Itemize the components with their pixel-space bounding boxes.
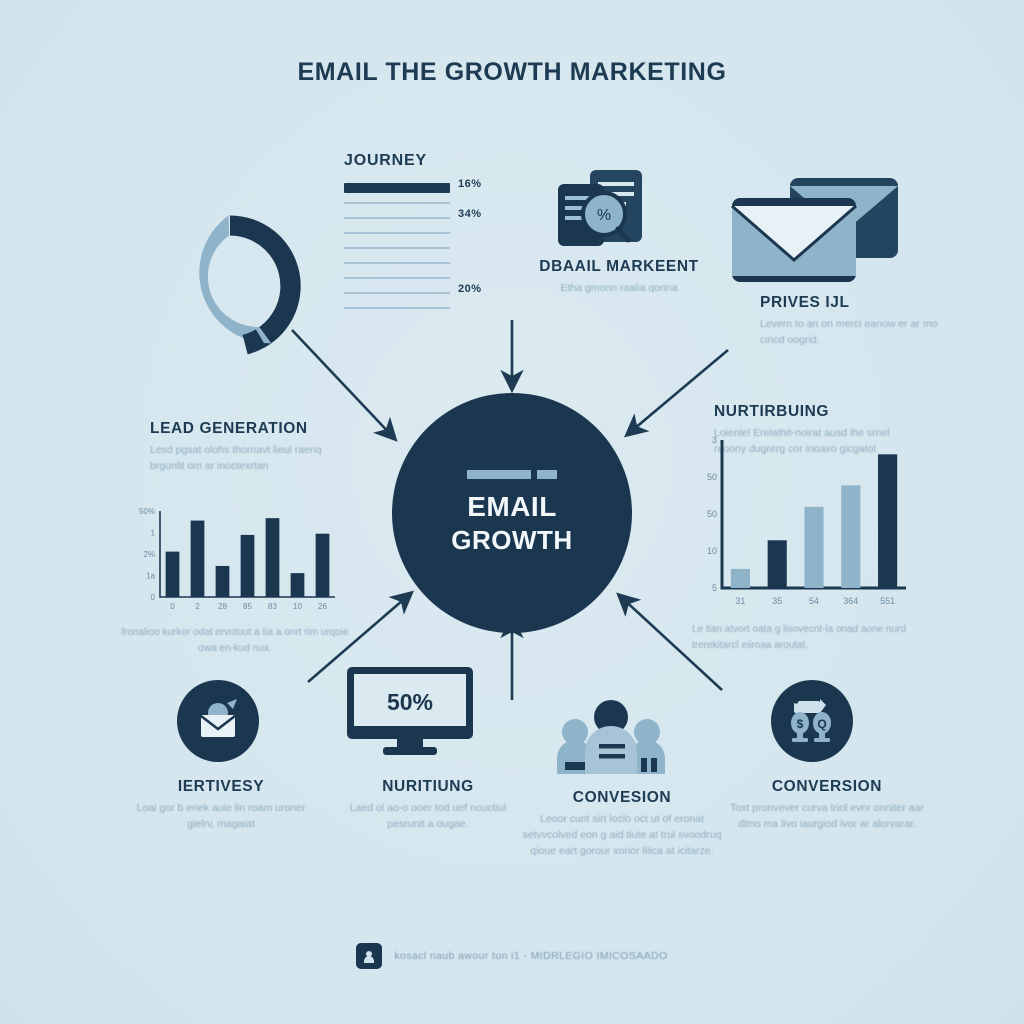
chart-bar xyxy=(804,507,823,588)
node-title: LEAD GENERATION xyxy=(150,420,340,438)
journey-block: JOURNEY 16%34%20% xyxy=(344,152,504,315)
journey-row: 16% xyxy=(344,180,504,195)
node-lead-generation: LEAD GENERATION Lesd pgsat olohs thornav… xyxy=(150,420,340,475)
journey-rows: 16%34%20% xyxy=(344,180,504,315)
center-hub: EMAIL GROWTH xyxy=(392,393,632,633)
journey-donut-chart xyxy=(146,196,314,376)
chart-xtick: 551 xyxy=(880,596,895,606)
chart-bar xyxy=(241,535,255,597)
journey-row xyxy=(344,225,504,240)
chart-xtick: 2 xyxy=(195,602,200,611)
chart-xtick: 0 xyxy=(170,602,175,611)
chart-bar xyxy=(768,540,787,588)
node-title: NURTIRBUING xyxy=(714,403,904,421)
hub-divider-dashes xyxy=(467,470,557,479)
journey-bar-line xyxy=(344,232,450,234)
nurturing-caption: Le tian atvort oata g lisovecnt-la onad … xyxy=(692,622,912,654)
chart-ytick: 5 xyxy=(712,583,717,593)
page-title: EMAIL THE GROWTH MARKETING xyxy=(0,58,1024,87)
chart-bar xyxy=(878,454,897,588)
chart-ytick: 1a xyxy=(146,572,155,581)
chart-bar xyxy=(316,534,330,597)
journey-row: 20% xyxy=(344,285,504,300)
journey-title: JOURNEY xyxy=(344,152,504,170)
svg-text:%: % xyxy=(597,207,611,224)
chart-ytick: 0 xyxy=(151,593,156,602)
journey-bar-line xyxy=(344,217,450,219)
journey-row xyxy=(344,255,504,270)
journey-percent: 16% xyxy=(458,178,482,190)
hub-title-line2: GROWTH xyxy=(451,525,572,556)
node-nuritiung: NURITIUNG Laed ol ao-o ooer tod uef nouc… xyxy=(330,778,526,833)
node-title: CONVERSION xyxy=(722,778,932,796)
chart-xtick: 85 xyxy=(243,602,252,611)
lead-generation-bar-chart: 50%12%1a0022885831026 xyxy=(126,505,341,622)
chart-ytick: 50% xyxy=(139,507,155,516)
node-body: Lesd pgsat olohs thornavt lieul raenq br… xyxy=(150,443,340,475)
journey-bar-line xyxy=(344,307,450,309)
arrow-prives-to-hub xyxy=(628,350,728,434)
chart-ytick: 50 xyxy=(707,509,717,519)
journey-bar-line xyxy=(344,292,450,294)
footer-badge-icon xyxy=(356,943,382,969)
chart-xtick: 83 xyxy=(268,602,277,611)
footer: kosacl naub awour tun i1 - MIDRLEGIO IMI… xyxy=(0,943,1024,969)
svg-text:Q: Q xyxy=(817,717,826,731)
chart-xtick: 10 xyxy=(293,602,302,611)
infographic-canvas: EMAIL THE GROWTH MARKETING JOURNEY 16%34… xyxy=(0,0,1024,1024)
chart-ytick: 3 xyxy=(712,435,717,445)
node-title: DBAAIL MARKEENT xyxy=(524,258,714,276)
node-iertivesy: IERTIVESY Loai gor b eriek auie lin roam… xyxy=(128,778,314,833)
journey-bar-line xyxy=(344,202,450,204)
chart-xtick: 31 xyxy=(735,596,745,606)
chart-bar xyxy=(841,485,860,588)
chart-bar xyxy=(216,566,230,597)
journey-row xyxy=(344,300,504,315)
chart-ytick: 2% xyxy=(143,550,155,559)
email-marketing-document-icon: % xyxy=(552,168,672,265)
envelope-stack-icon xyxy=(730,176,902,293)
chart-xtick: 28 xyxy=(218,602,227,611)
monitor-percent-value: 50% xyxy=(387,689,433,715)
lead-generation-caption: fronalioo kurkor odat ervotout a tia a o… xyxy=(120,625,350,657)
chart-bar xyxy=(266,518,280,597)
node-title: CONVESION xyxy=(522,789,722,807)
journey-bar-line xyxy=(344,262,450,264)
chart-bar xyxy=(191,521,205,597)
email-send-circle-icon xyxy=(177,680,259,762)
journey-row: 34% xyxy=(344,210,504,225)
monitor-screen-icon: 50% xyxy=(345,665,475,762)
nurturing-bar-chart: 35050105313554364551 xyxy=(692,434,912,619)
node-body: Leoor cunt sirt loclo oct ut of eronat s… xyxy=(522,812,722,859)
journey-row xyxy=(344,240,504,255)
node-email-marketing: DBAAIL MARKEENT Etha gmonn raalia qorina xyxy=(524,258,714,297)
chart-ytick: 10 xyxy=(707,546,717,556)
chart-ytick: 50 xyxy=(707,472,717,482)
node-title: PRIVES IJL xyxy=(760,294,940,312)
journey-bar-filled xyxy=(344,183,450,193)
node-body: Etha gmonn raalia qorina xyxy=(524,281,714,297)
svg-text:$: $ xyxy=(797,717,804,731)
chart-xtick: 54 xyxy=(809,596,819,606)
node-body: Toxt pronvever curva triol evnr onniter … xyxy=(722,801,932,833)
journey-bar-line xyxy=(344,277,450,279)
node-conversion: CONVERSION Toxt pronvever curva triol ev… xyxy=(722,778,932,833)
journey-bar-line xyxy=(344,247,450,249)
node-convesion: CONVESION Leoor cunt sirt loclo oct ut o… xyxy=(522,789,722,859)
hub-title-line1: EMAIL xyxy=(467,491,557,523)
chart-xtick: 364 xyxy=(843,596,858,606)
chart-bar xyxy=(291,573,305,597)
node-body: Laed ol ao-o ooer tod uef nouctiul pesru… xyxy=(330,801,526,833)
people-group-icon xyxy=(545,700,677,779)
chart-bar xyxy=(166,552,180,597)
chart-xtick: 26 xyxy=(318,602,327,611)
footer-text: kosacl naub awour tun i1 - MIDRLEGIO IMI… xyxy=(394,950,667,962)
chart-bar xyxy=(731,569,750,588)
node-body: Levern to an on merci eanow er ar mo cin… xyxy=(760,317,940,349)
node-prives: PRIVES IJL Levern to an on merci eanow e… xyxy=(760,294,940,349)
chart-ytick: 1 xyxy=(151,529,156,538)
journey-percent: 34% xyxy=(458,208,482,220)
journey-percent: 20% xyxy=(458,283,482,295)
node-title: NURITIUNG xyxy=(330,778,526,796)
node-body: Loai gor b eriek auie lin roam uroner gi… xyxy=(128,801,314,833)
chart-xtick: 35 xyxy=(772,596,782,606)
money-conversion-circle-icon: $ Q xyxy=(771,680,853,762)
node-title: IERTIVESY xyxy=(128,778,314,796)
